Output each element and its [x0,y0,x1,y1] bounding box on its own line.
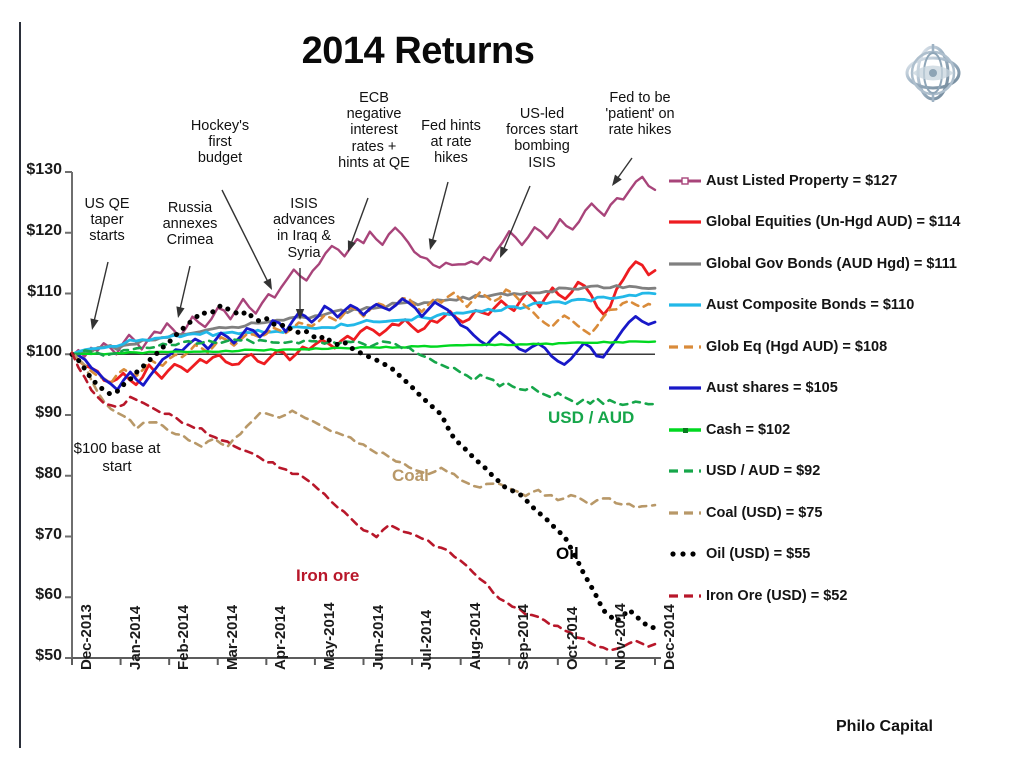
iron-ore-label: Iron ore [296,566,359,586]
legend-label-aust-listed-property: Aust Listed Property = $127 [706,173,897,189]
legend-item-aust-listed-property[interactable]: Aust Listed Property = $127 [668,160,1016,202]
legend-swatch-aust-composite-bonds [668,298,702,312]
legend-label-global-equities-un-hgd-aud: Global Equities (Un-Hgd AUD) = $114 [706,214,960,230]
x-axis-tick-label: Dec-2013 [78,604,95,670]
annotation-hockeys-first-budget: Hockey's first budget [178,118,262,167]
legend-label-aust-shares: Aust shares = $105 [706,380,838,396]
annotation-arrowhead [612,175,622,186]
x-axis-tick-label: Nov-2014 [612,603,629,670]
legend-label-usd-aud: USD / AUD = $92 [706,463,820,479]
y-axis-tick-label: $110 [6,283,62,301]
y-axis-tick-label: $100 [6,343,62,361]
legend-label-oil-usd: Oil (USD) = $55 [706,546,810,562]
x-axis-tick-label: Aug-2014 [467,602,484,670]
annotation-us-led-bombing-isis: US-led forces start bombing ISIS [496,106,588,171]
legend-swatch-usd-aud [668,464,702,478]
legend-swatch-oil-usd [668,547,702,561]
legend-swatch-glob-eq-hgd-aud [668,340,702,354]
x-axis-tick-label: Sep-2014 [515,604,532,670]
legend-swatch-cash [668,423,702,437]
legend-item-global-equities-un-hgd-aud[interactable]: Global Equities (Un-Hgd AUD) = $114 [668,202,1016,244]
legend-item-global-gov-bonds-aud-hgd[interactable]: Global Gov Bonds (AUD Hgd) = $111 [668,243,1016,285]
annotation-leader-line [502,186,530,252]
legend-swatch-coal-usd [668,506,702,520]
annotation-arrowhead [263,278,272,290]
y-axis-tick-label: $90 [6,404,62,422]
legend-item-coal-usd[interactable]: Coal (USD) = $75 [668,492,1016,534]
legend-label-coal-usd: Coal (USD) = $75 [706,505,822,521]
series-line-usd-aud [72,339,655,404]
usd-aud-label: USD / AUD [548,408,634,428]
series-line-global-equities-un-hgd-aud [72,262,655,385]
annotation-us-qe-taper-starts: US QE taper starts [68,196,146,245]
annotation-leader-line [93,262,108,324]
x-axis-tick-label: Feb-2014 [175,605,192,670]
annotation-fed-patient-rate-hikes: Fed to be 'patient' on rate hikes [594,90,686,139]
legend-swatch-aust-listed-property [668,174,702,188]
y-axis-tick-label: $60 [6,586,62,604]
y-axis-tick-label: $120 [6,222,62,240]
legend-item-aust-shares[interactable]: Aust shares = $105 [668,368,1016,410]
legend-item-iron-ore-usd[interactable]: Iron Ore (USD) = $52 [668,575,1016,617]
legend-label-glob-eq-hgd-aud: Glob Eq (Hgd AUD) = $108 [706,339,887,355]
x-axis-tick-label: Jan-2014 [127,606,144,670]
slide-canvas: 2014 Returns Philo Capital $130$120$110 [0,0,1016,767]
annotation-arrowhead [500,246,508,258]
coal-label: Coal [392,466,429,486]
legend-item-usd-aud[interactable]: USD / AUD = $92 [668,451,1016,493]
annotation-ecb-negative-rates: ECB negative interest rates + hints at Q… [330,90,418,171]
legend-item-aust-composite-bonds[interactable]: Aust Composite Bonds = $110 [668,285,1016,327]
y-axis-tick-label: $80 [6,465,62,483]
legend-swatch-global-equities-un-hgd-aud [668,215,702,229]
annotation-fed-hints-rate-hikes: Fed hints at rate hikes [410,118,492,167]
legend-label-cash: Cash = $102 [706,422,790,438]
x-axis-tick-label: Mar-2014 [224,605,241,670]
chart-legend: Aust Listed Property = $127Global Equiti… [668,160,1016,617]
legend-swatch-global-gov-bonds-aud-hgd [668,257,702,271]
annotation-arrowhead [90,318,98,330]
legend-swatch-aust-shares [668,381,702,395]
x-axis-tick-label: Apr-2014 [272,606,289,670]
annotation-leader-line [432,182,448,244]
oil-label: Oil [556,544,579,564]
annotation-arrowhead [176,306,184,318]
annotation-arrowhead [429,238,437,250]
legend-label-iron-ore-usd: Iron Ore (USD) = $52 [706,588,847,604]
annotation-russia-annexes-crimea: Russia annexes Crimea [148,200,232,249]
legend-label-global-gov-bonds-aud-hgd: Global Gov Bonds (AUD Hgd) = $111 [706,256,957,272]
annotation-leader-line [179,266,190,312]
x-axis-tick-label: May-2014 [321,602,338,670]
y-axis-tick-label: $130 [6,161,62,179]
x-axis-tick-label: Jul-2014 [418,610,435,670]
y-axis-tick-label: $50 [6,647,62,665]
legend-item-glob-eq-hgd-aud[interactable]: Glob Eq (Hgd AUD) = $108 [668,326,1016,368]
legend-item-cash[interactable]: Cash = $102 [668,409,1016,451]
baseline-note: $100 base at start [62,440,172,476]
y-axis-tick-label: $70 [6,526,62,544]
x-axis-tick-label: Jun-2014 [370,605,387,670]
legend-item-oil-usd[interactable]: Oil (USD) = $55 [668,534,1016,576]
legend-label-aust-composite-bonds: Aust Composite Bonds = $110 [706,297,914,313]
x-axis-tick-label: Oct-2014 [564,607,581,670]
annotation-isis-advances-iraq-syria: ISIS advances in Iraq & Syria [264,196,344,261]
legend-swatch-iron-ore-usd [668,589,702,603]
